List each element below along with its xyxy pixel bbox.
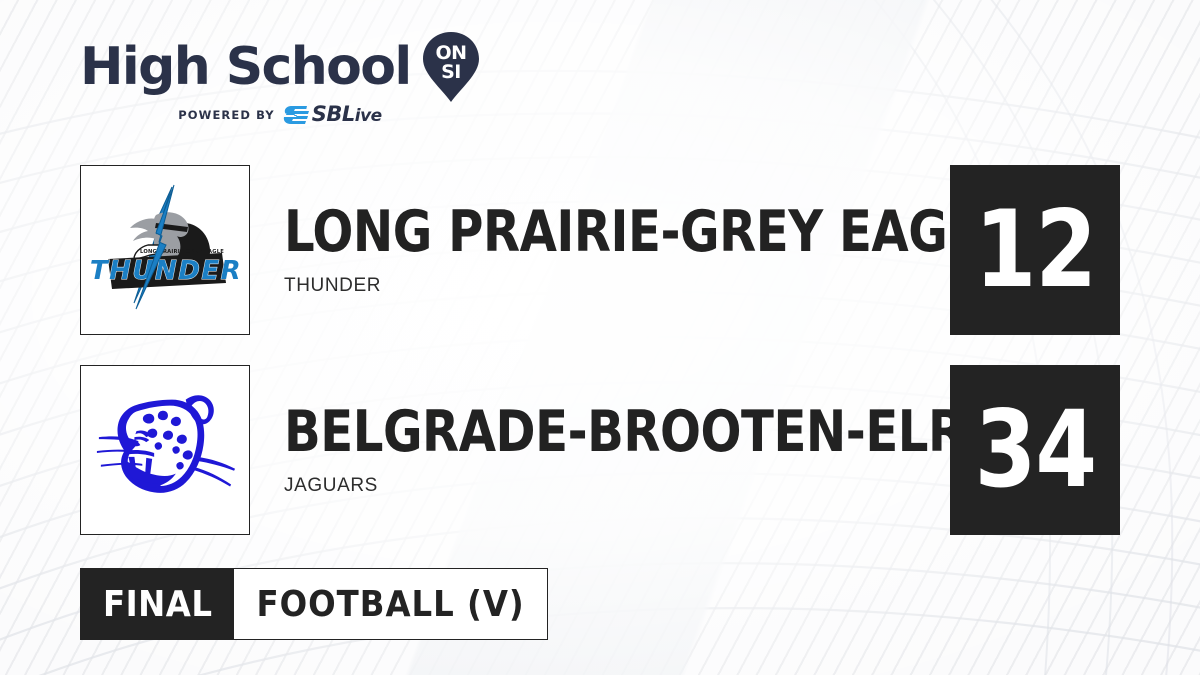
powered-by-label: POWERED BY (178, 108, 274, 122)
sblive-wordmark-suffix: ive (355, 106, 382, 126)
scoreboard-graphic: High School ON SI POWERED BY SBLive (0, 0, 1200, 675)
team-score-box: 12 (950, 165, 1120, 335)
sport-label: FOOTBALL (V) (234, 569, 546, 639)
jaguar-head-logo-icon (91, 376, 239, 524)
thunder-zeus-logo-icon: THUNDER LONG PRAIRIE-GREY EAGLE (90, 175, 240, 325)
brand-header: High School ON SI POWERED BY SBLive (80, 36, 510, 132)
team-score-value: 34 (974, 397, 1096, 503)
game-status-badge: FINAL (81, 569, 234, 639)
game-status-bar: FINAL FOOTBALL (V) (80, 568, 548, 640)
team-mascot: THUNDER (284, 275, 1056, 297)
powered-by-row: POWERED BY SBLive (80, 104, 480, 126)
thunder-arc-text: LONG PRAIRIE-GREY EAGLE (140, 249, 224, 255)
on-si-pin-badge-icon: ON SI (421, 30, 481, 104)
sblive-wordmark-main: SBL (312, 102, 355, 126)
sblive-s-mark-icon (283, 104, 309, 126)
team-logo-box (80, 365, 250, 535)
pin-badge-line2-text: SI (441, 61, 461, 83)
sblive-wordmark: SBLive (312, 104, 382, 127)
team-logo-box: THUNDER LONG PRAIRIE-GREY EAGLE (80, 165, 250, 335)
team-name: LONG PRAIRIE-GREY EAGLE (284, 204, 1010, 261)
team-score-value: 12 (974, 197, 1096, 303)
team-text-block: LONG PRAIRIE-GREY EAGLE THUNDER (284, 165, 1056, 335)
team-row: THUNDER LONG PRAIRIE-GREY EAGLE LONG PRA… (0, 165, 1200, 335)
sblive-logo-lockup: SBLive (283, 104, 382, 127)
brand-wordmark: High School (80, 41, 411, 93)
team-score-box: 34 (950, 365, 1120, 535)
thunder-banner-text: THUNDER (90, 256, 240, 286)
team-row: BELGRADE-BROOTEN-ELROSA JAGUARS 34 (0, 365, 1200, 535)
brand-wordmark-row: High School ON SI (80, 36, 510, 98)
